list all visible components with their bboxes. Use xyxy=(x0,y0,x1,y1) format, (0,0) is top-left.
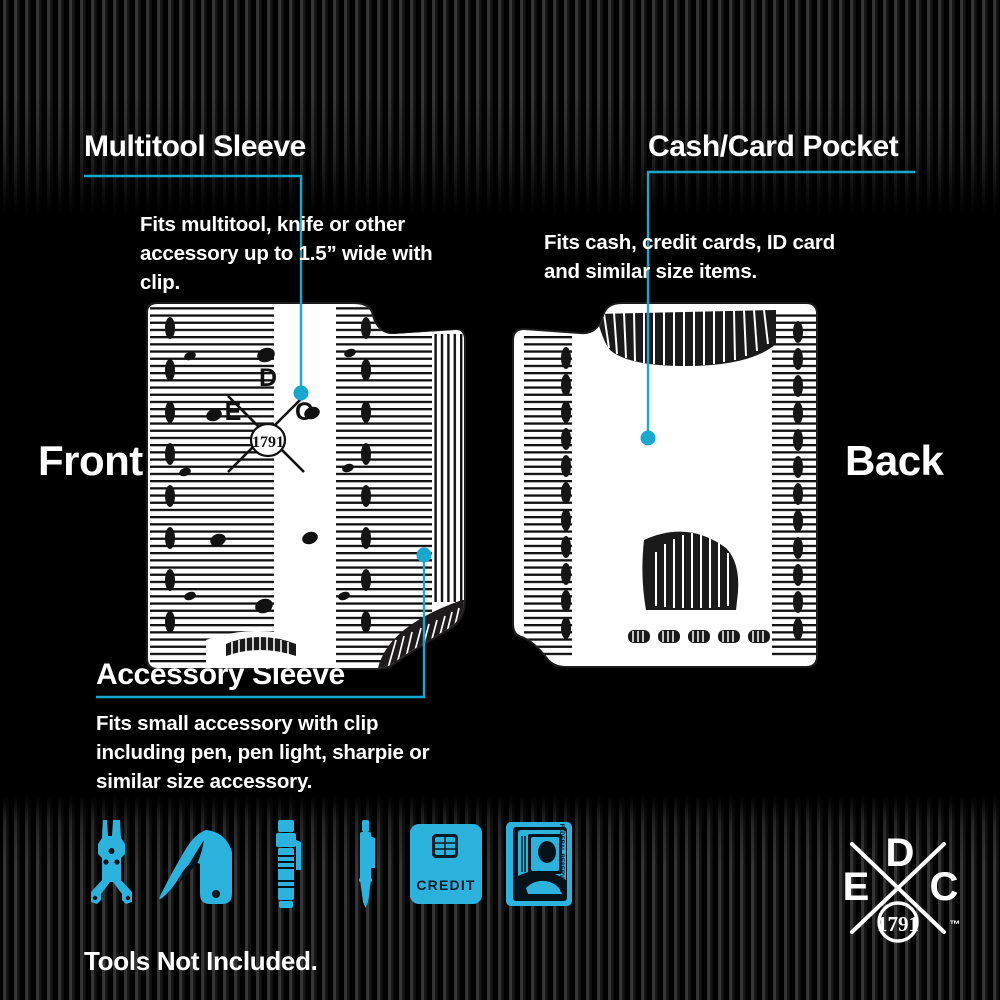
back-cash-card-pocket-opening xyxy=(596,310,776,366)
brand-letter-e: E xyxy=(843,865,870,909)
brand-trademark: ™ xyxy=(950,919,961,931)
front-left-edge-stitching xyxy=(150,306,178,664)
credit-card-label: CREDIT xyxy=(416,877,475,893)
product-back-illustration xyxy=(510,300,832,672)
callout-body-accessory-sleeve: Fits small accessory with clip including… xyxy=(96,709,466,796)
credit-card-icon: CREDIT xyxy=(410,824,482,904)
front-logo-letter-d: D xyxy=(259,364,277,392)
flashlight-icon xyxy=(276,820,301,908)
brand-year: 1791 xyxy=(877,912,919,936)
callout-title-cash-card-pocket: Cash/Card Pocket xyxy=(648,132,898,162)
callout-body-multitool-sleeve: Fits multitool, knife or other accessory… xyxy=(140,210,470,297)
front-logo-year: 1791 xyxy=(252,434,284,451)
multitool-pliers-icon xyxy=(91,820,132,904)
callout-title-multitool-sleeve: Multitool Sleeve xyxy=(84,132,306,162)
top-stripe-texture xyxy=(0,0,1000,215)
view-label-back: Back xyxy=(845,440,943,482)
cash-bills-icon: FEDERAL RESERVE NOTE xyxy=(506,822,572,906)
back-left-seam-stitches xyxy=(561,347,571,639)
view-label-front: Front xyxy=(38,440,143,482)
infographic-canvas: D E C 1791 xyxy=(0,0,1000,1000)
callout-title-accessory-sleeve: Accessory Sleeve xyxy=(96,660,345,690)
brand-letter-d: D xyxy=(886,831,915,875)
folding-knife-icon xyxy=(159,830,232,904)
front-logo-letter-e: E xyxy=(225,398,242,426)
front-accessory-sleeve-panel xyxy=(432,334,466,602)
product-front-illustration: D E C 1791 xyxy=(140,300,472,672)
brand-letter-c: C xyxy=(930,865,959,909)
pen-icon xyxy=(359,820,375,908)
front-logo-letter-c: C xyxy=(295,398,313,426)
edc-brand-mark: D E C 1791 ™ xyxy=(838,822,966,950)
tools-not-included-note: Tools Not Included. xyxy=(84,948,318,974)
tool-icon-row: CREDIT FEDERAL RESERVE NOTE xyxy=(80,818,600,910)
cash-bill-micro-text: FEDERAL RESERVE NOTE xyxy=(558,824,564,901)
callout-body-cash-card-pocket: Fits cash, credit cards, ID card and sim… xyxy=(544,228,864,286)
